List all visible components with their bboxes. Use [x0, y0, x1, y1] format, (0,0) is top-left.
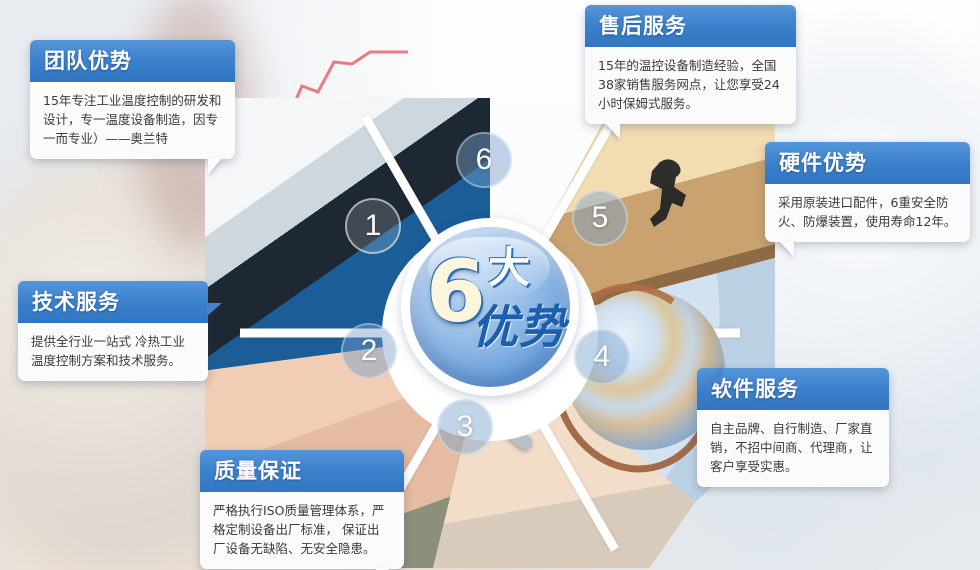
callout-quality-body: 严格执行ISO质量管理体系，严格定制设备出厂标准， 保证出厂设备无缺陷、无安全隐…	[200, 492, 404, 569]
callout-tech-tail	[207, 303, 222, 316]
callout-team-advantage[interactable]: 团队优势 15年专注工业温度控制的研发和设计，专一温度设备制造，因专一而专业）—…	[30, 40, 235, 159]
callout-hardware-body: 采用原装进口配件，6重安全防火、防爆装置，使用寿命12年。	[765, 184, 970, 242]
segment-number-5[interactable]: 5	[572, 190, 628, 246]
callout-software-tail	[707, 367, 722, 383]
callout-after-sales-body: 15年的温控设备制造经验，全国38家销售服务网点，让您享受24小时保姆式服务。	[585, 47, 796, 124]
segment-number-4-label: 4	[594, 340, 611, 374]
segment-number-5-label: 5	[592, 201, 609, 235]
badge-script-word: 优势	[472, 303, 566, 351]
callout-after-sales-tail	[605, 123, 620, 139]
callout-tech-title: 技术服务	[18, 281, 208, 323]
climber-silhouette	[620, 150, 710, 260]
segment-number-2[interactable]: 2	[341, 323, 397, 379]
callout-software-service[interactable]: 软件服务 自主品牌、自行制造、厂家直销，不招中间商、代理商，让客户享受实惠。	[697, 368, 889, 487]
callout-team-body: 15年专注工业温度控制的研发和设计，专一温度设备制造，因专一而专业）——奥兰特	[30, 82, 235, 159]
callout-quality-guarantee[interactable]: 质量保证 严格执行ISO质量管理体系，严格定制设备出厂标准， 保证出厂设备无缺陷…	[200, 450, 404, 569]
segment-number-3-label: 3	[457, 410, 474, 444]
callout-technical-service[interactable]: 技术服务 提供全行业一站式 冷热工业温度控制方案和技术服务。	[18, 281, 208, 381]
infographic-stage: STOCK MARKET DATA INTC	[0, 0, 980, 570]
callout-quality-title: 质量保证	[200, 450, 404, 492]
callout-team-tail	[208, 158, 222, 175]
center-badge-circle: 6 大 优势	[410, 227, 570, 387]
callout-after-sales[interactable]: 售后服务 15年的温控设备制造经验，全国38家销售服务网点，让您享受24小时保姆…	[585, 5, 796, 124]
segment-number-6-label: 6	[476, 143, 493, 177]
segment-number-1-label: 1	[365, 209, 382, 243]
callout-software-title: 软件服务	[697, 368, 889, 410]
callout-after-sales-title: 售后服务	[585, 5, 796, 47]
callout-hardware-advantage[interactable]: 硬件优势 采用原装进口配件，6重安全防火、防爆装置，使用寿命12年。	[765, 142, 970, 242]
center-badge: 6 大 优势	[401, 218, 579, 396]
callout-hardware-title: 硬件优势	[765, 142, 970, 184]
segment-number-2-label: 2	[361, 334, 378, 368]
badge-big-word: 大	[488, 247, 530, 289]
callout-software-body: 自主品牌、自行制造、厂家直销，不招中间商、代理商，让客户享受实惠。	[697, 410, 889, 487]
segment-number-1[interactable]: 1	[345, 198, 401, 254]
segment-number-6[interactable]: 6	[456, 132, 512, 188]
segment-number-4[interactable]: 4	[574, 329, 630, 385]
segment-number-3[interactable]: 3	[437, 399, 493, 455]
callout-hardware-tail	[779, 241, 794, 257]
callout-team-title: 团队优势	[30, 40, 235, 82]
callout-tech-body: 提供全行业一站式 冷热工业温度控制方案和技术服务。	[18, 323, 208, 381]
